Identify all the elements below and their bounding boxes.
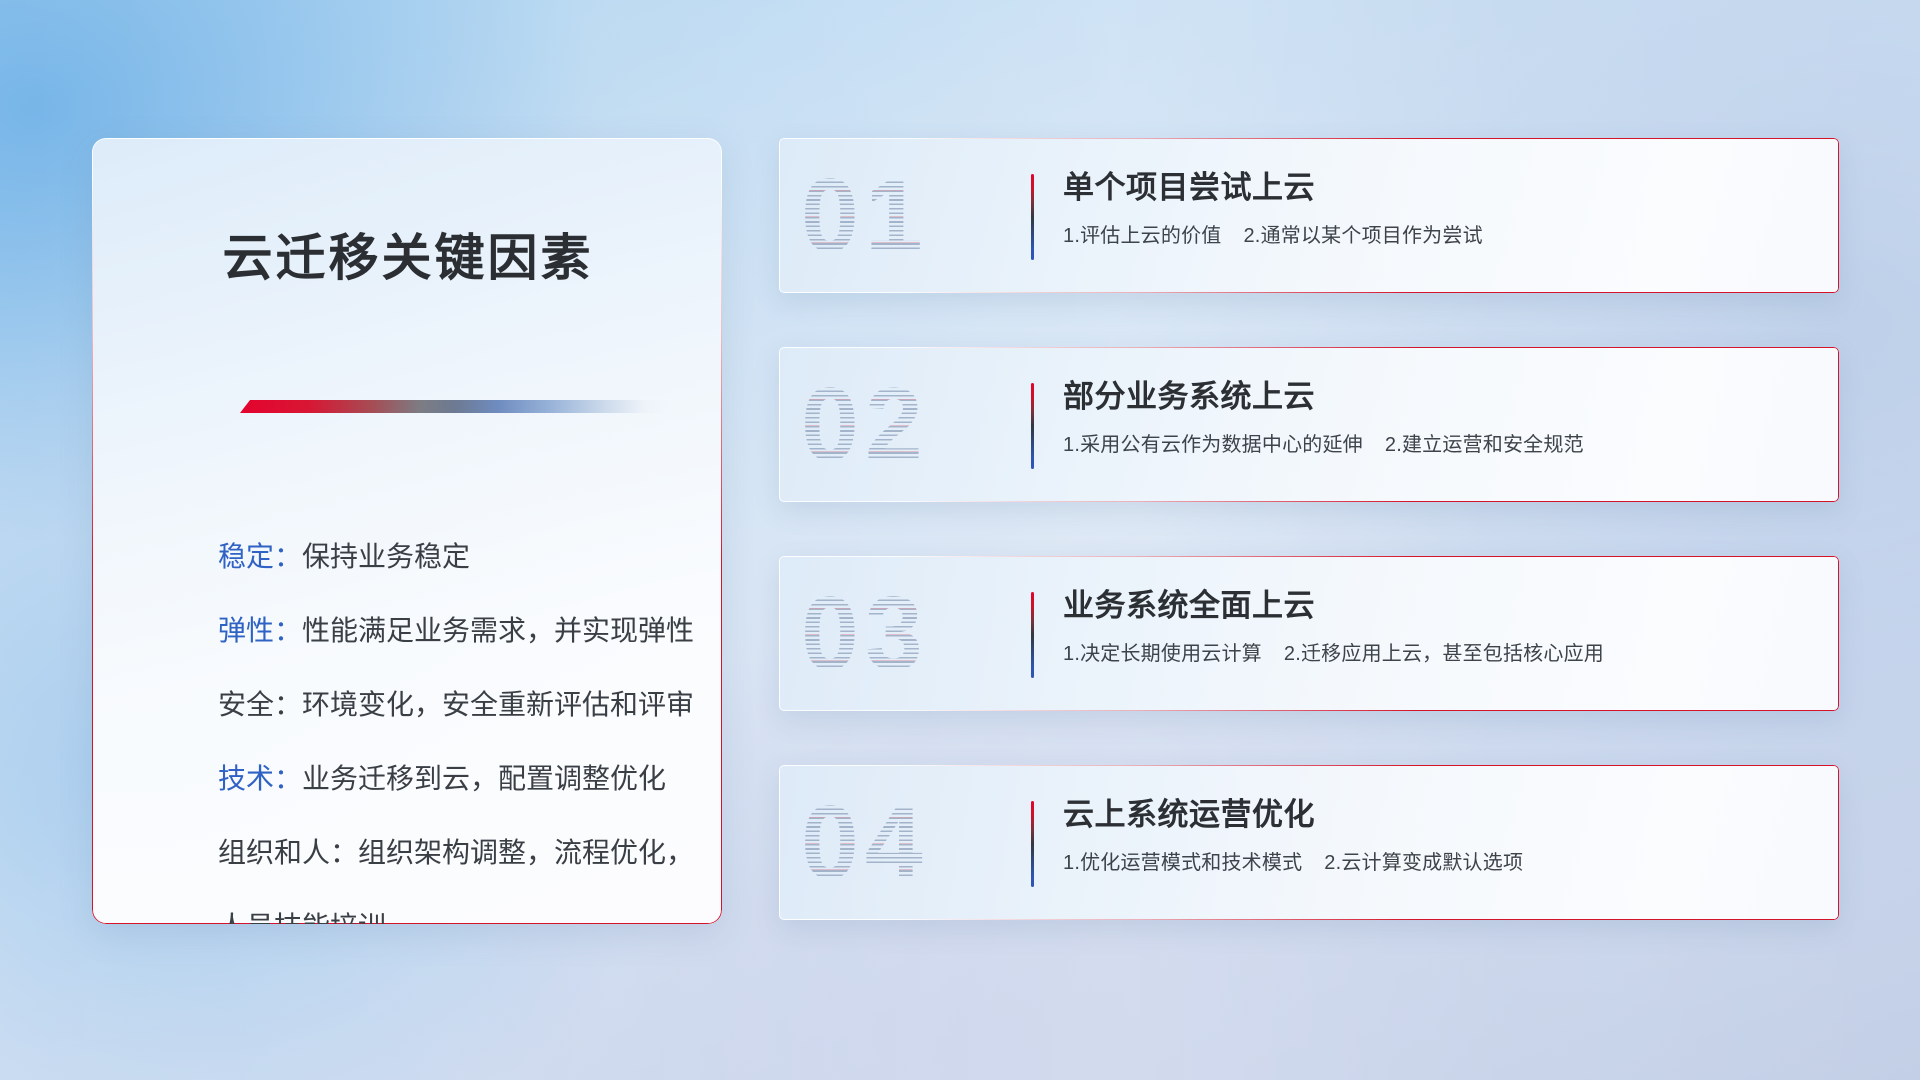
card-point-1: 1.决定长期使用云计算 [1063,643,1262,665]
stage-number: 02 [801,373,929,477]
card-divider-bar [1031,383,1034,469]
card-divider-bar [1031,592,1034,678]
card-body: 单个项目尝试上云 1.评估上云的价值2.通常以某个项目作为尝试 [1063,170,1815,248]
factor-item: 安全：环境变化，安全重新评估和评审 [218,668,688,742]
factor-text: 业务迁移到云，配置调整优化 [302,763,666,794]
factor-text: 保持业务稳定 [302,541,470,572]
card-point-2: 2.云计算变成默认选项 [1324,852,1523,874]
stage-card[interactable]: 02 02 部分业务系统上云 1.采用公有云作为数据中心的延伸2.建立运营和安全… [779,347,1839,502]
title-underline-rule [240,400,670,413]
factor-label: 稳定： [218,541,302,572]
stage-number: 03 [801,582,929,686]
factor-label: 安全： [218,689,302,720]
card-subtext: 1.采用公有云作为数据中心的延伸2.建立运营和安全规范 [1063,428,1815,457]
card-point-1: 1.采用公有云作为数据中心的延伸 [1063,434,1363,456]
card-point-1: 1.优化运营模式和技术模式 [1063,852,1302,874]
slide-canvas: 云迁移关键因素 稳定：保持业务稳定 弹性：性能满足业务需求，并实现弹性 安全：环… [0,0,1920,1080]
card-divider-bar [1031,801,1034,887]
stage-number: 01 [801,164,929,268]
factor-item: 技术：业务迁移到云，配置调整优化 [218,742,688,816]
card-body: 云上系统运营优化 1.优化运营模式和技术模式2.云计算变成默认选项 [1063,797,1815,875]
card-heading: 部分业务系统上云 [1063,379,1815,416]
factor-item-continued: 人员技能培训 [218,890,688,924]
stage-number: 04 [801,791,929,895]
card-point-2: 2.迁移应用上云，甚至包括核心应用 [1284,643,1604,665]
factor-list: 稳定：保持业务稳定 弹性：性能满足业务需求，并实现弹性 安全：环境变化，安全重新… [218,520,688,924]
factor-text: 性能满足业务需求，并实现弹性 [302,615,694,646]
card-point-2: 2.建立运营和安全规范 [1385,434,1584,456]
stage-card-list: 01 01 单个项目尝试上云 1.评估上云的价值2.通常以某个项目作为尝试 02… [779,138,1839,974]
factor-item: 组织和人：组织架构调整，流程优化， [218,816,688,890]
card-point-2: 2.通常以某个项目作为尝试 [1243,225,1482,247]
card-body: 业务系统全面上云 1.决定长期使用云计算2.迁移应用上云，甚至包括核心应用 [1063,588,1815,666]
card-subtext: 1.优化运营模式和技术模式2.云计算变成默认选项 [1063,846,1815,875]
card-heading: 单个项目尝试上云 [1063,170,1815,207]
stage-card[interactable]: 01 01 单个项目尝试上云 1.评估上云的价值2.通常以某个项目作为尝试 [779,138,1839,293]
factor-label: 组织和人： [218,837,358,868]
factor-text: 人员技能培训 [218,911,386,924]
card-body: 部分业务系统上云 1.采用公有云作为数据中心的延伸2.建立运营和安全规范 [1063,379,1815,457]
card-divider-bar [1031,174,1034,260]
factor-label: 技术： [218,763,302,794]
card-point-1: 1.评估上云的价值 [1063,225,1221,247]
stage-card[interactable]: 04 04 云上系统运营优化 1.优化运营模式和技术模式2.云计算变成默认选项 [779,765,1839,920]
factor-item: 弹性：性能满足业务需求，并实现弹性 [218,594,688,668]
key-factors-panel: 云迁移关键因素 稳定：保持业务稳定 弹性：性能满足业务需求，并实现弹性 安全：环… [92,138,722,924]
card-heading: 云上系统运营优化 [1063,797,1815,834]
factor-label: 弹性： [218,615,302,646]
card-subtext: 1.决定长期使用云计算2.迁移应用上云，甚至包括核心应用 [1063,637,1815,666]
card-heading: 业务系统全面上云 [1063,588,1815,625]
page-title: 云迁移关键因素 [148,218,668,290]
stage-card[interactable]: 03 03 业务系统全面上云 1.决定长期使用云计算2.迁移应用上云，甚至包括核… [779,556,1839,711]
factor-text: 组织架构调整，流程优化， [358,837,694,868]
factor-item: 稳定：保持业务稳定 [218,520,688,594]
card-subtext: 1.评估上云的价值2.通常以某个项目作为尝试 [1063,219,1815,248]
factor-text: 环境变化，安全重新评估和评审 [302,689,694,720]
